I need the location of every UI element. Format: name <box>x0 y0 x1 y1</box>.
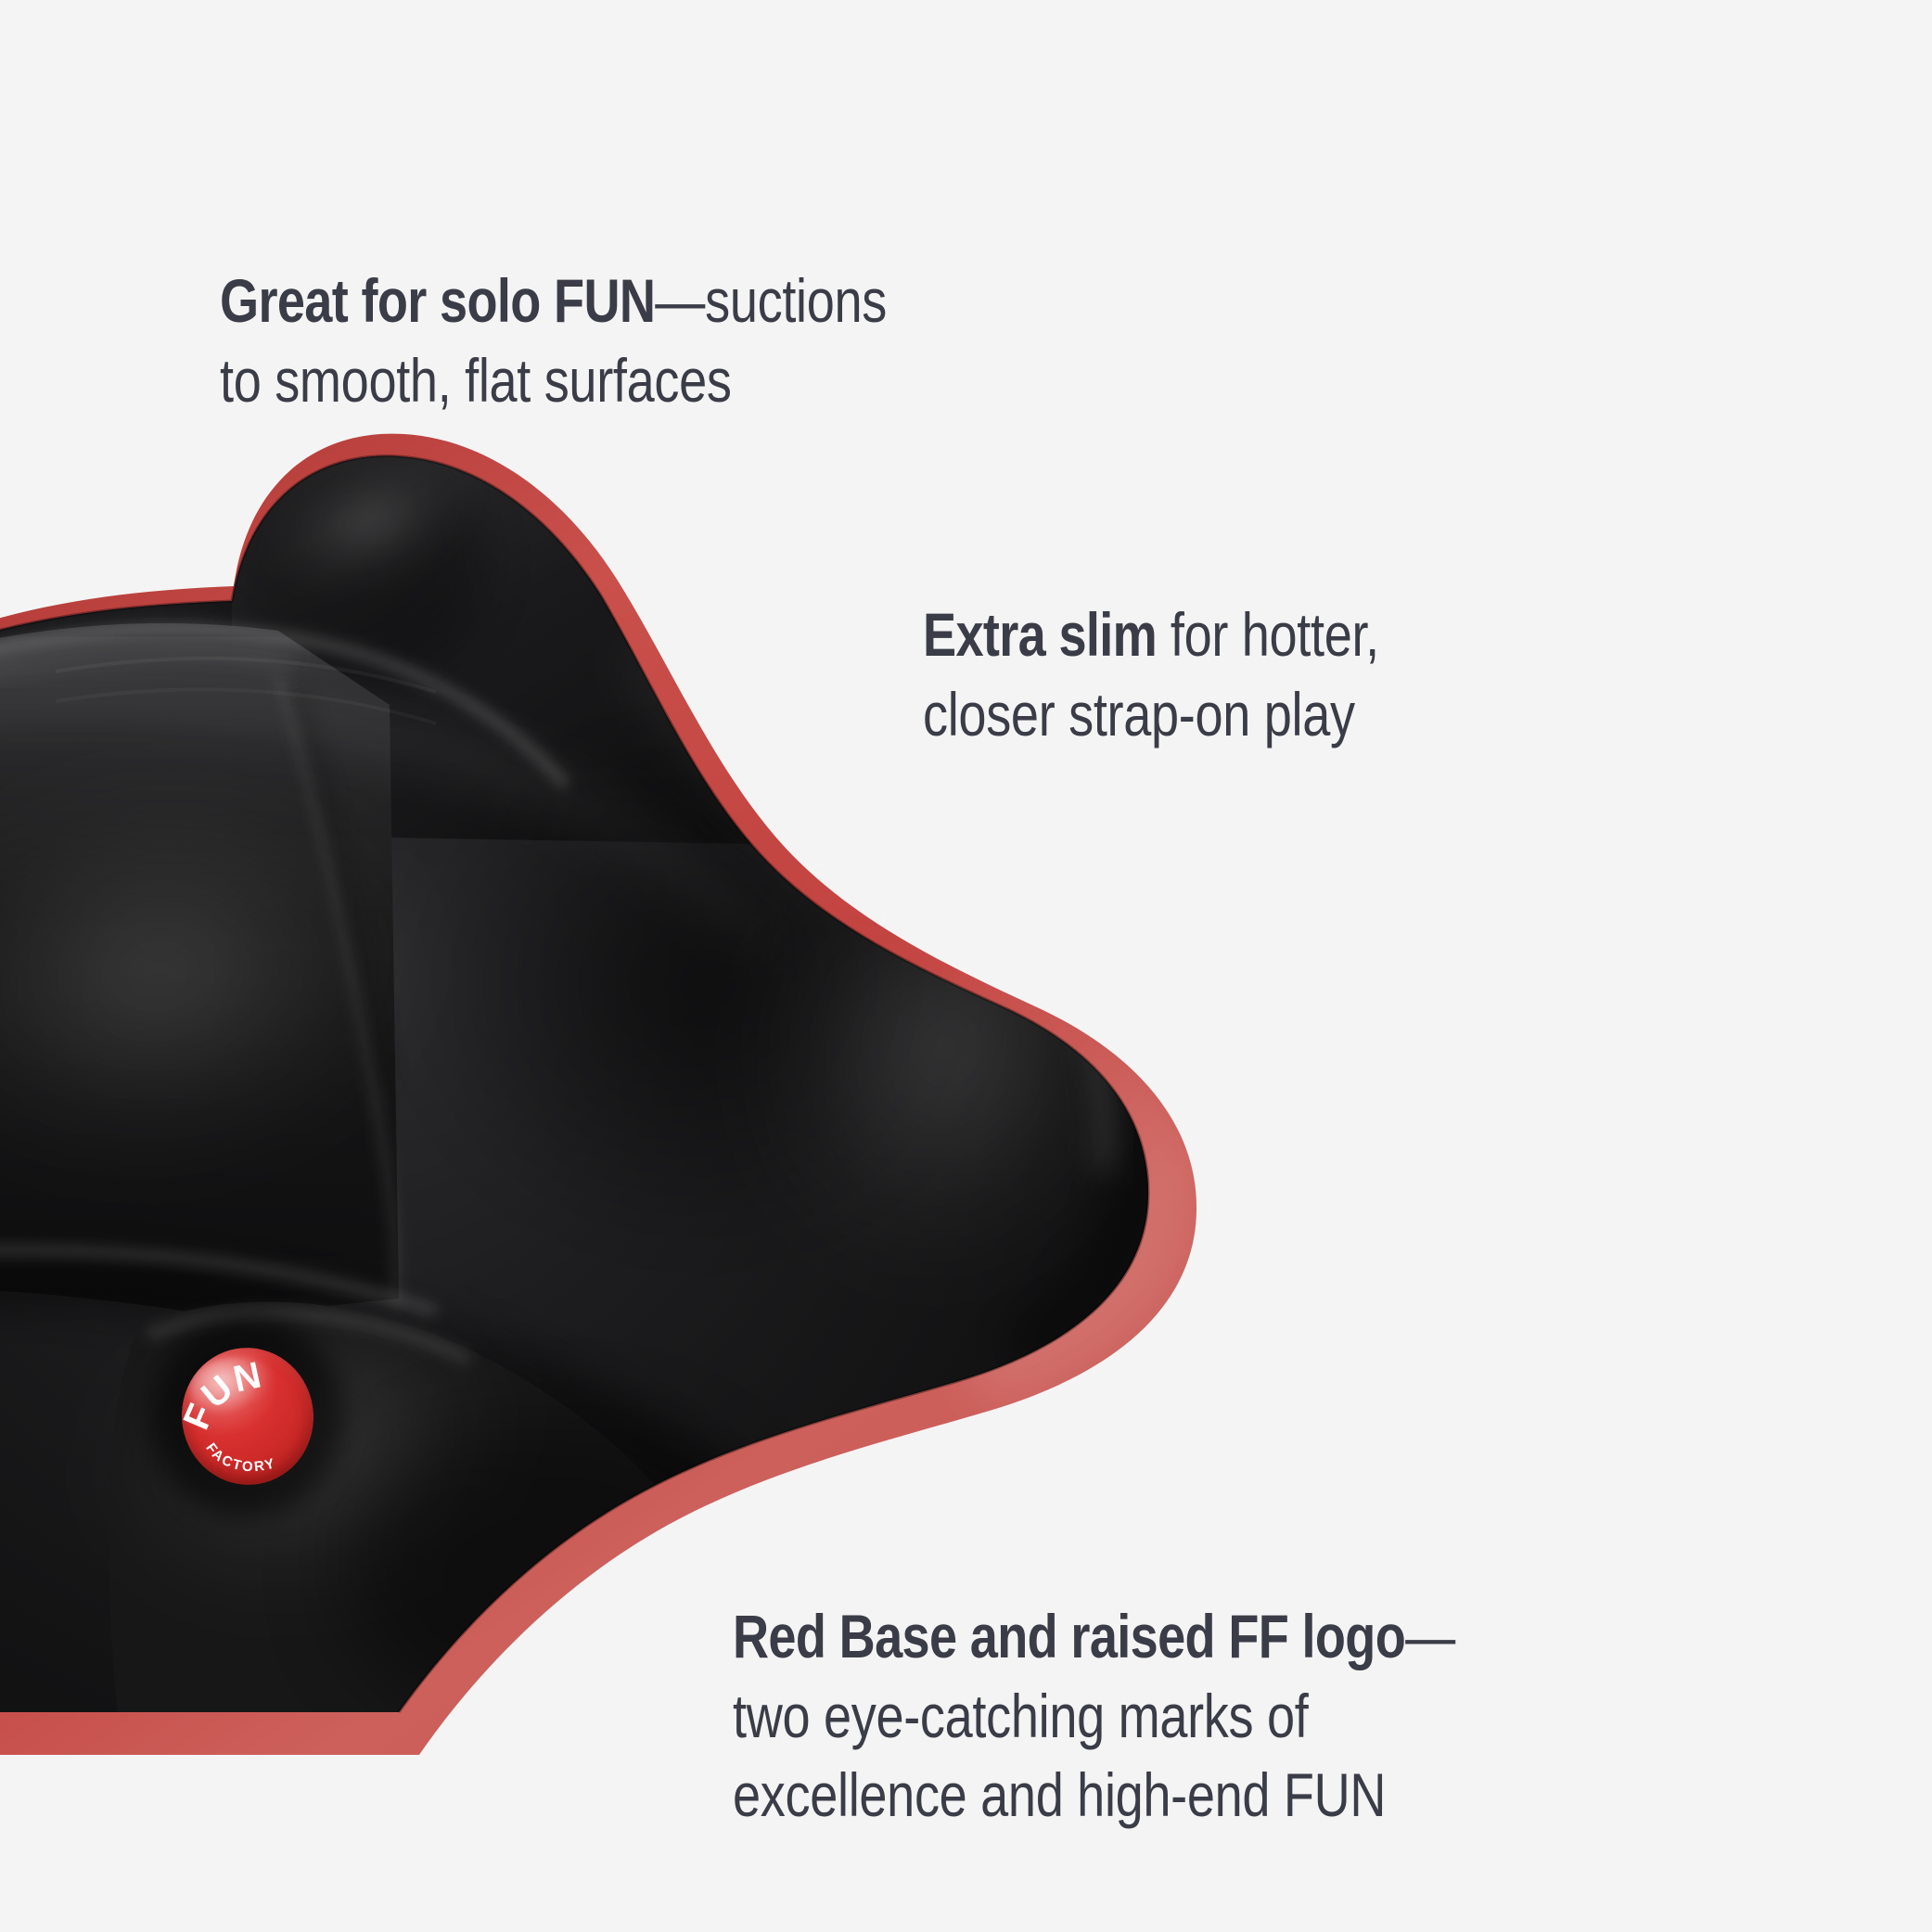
product-feature-callout-image: FUN FACTORY Great for solo FUN—suctions … <box>0 0 1932 1932</box>
callout-slim-bold: Extra slim <box>923 600 1157 669</box>
callout-solo-bold: Great for solo FUN <box>220 266 655 335</box>
fun-factory-wordmark: FUN FACTORY <box>172 1338 323 1494</box>
svg-text:FACTORY: FACTORY <box>201 1431 278 1483</box>
callout-red-base-logo: Red Base and raised FF logo— two eye-cat… <box>733 1517 1569 1836</box>
callout-extra-slim: Extra slim for hotter, closer strap-on p… <box>923 516 1683 754</box>
svg-text:FUN: FUN <box>172 1354 270 1440</box>
callout-logo-bold: Red Base and raised FF logo <box>733 1602 1405 1670</box>
callout-solo-fun: Great for solo FUN—suctions to smooth, f… <box>220 182 1132 420</box>
fun-factory-logo-button[interactable]: FUN FACTORY <box>172 1338 323 1494</box>
